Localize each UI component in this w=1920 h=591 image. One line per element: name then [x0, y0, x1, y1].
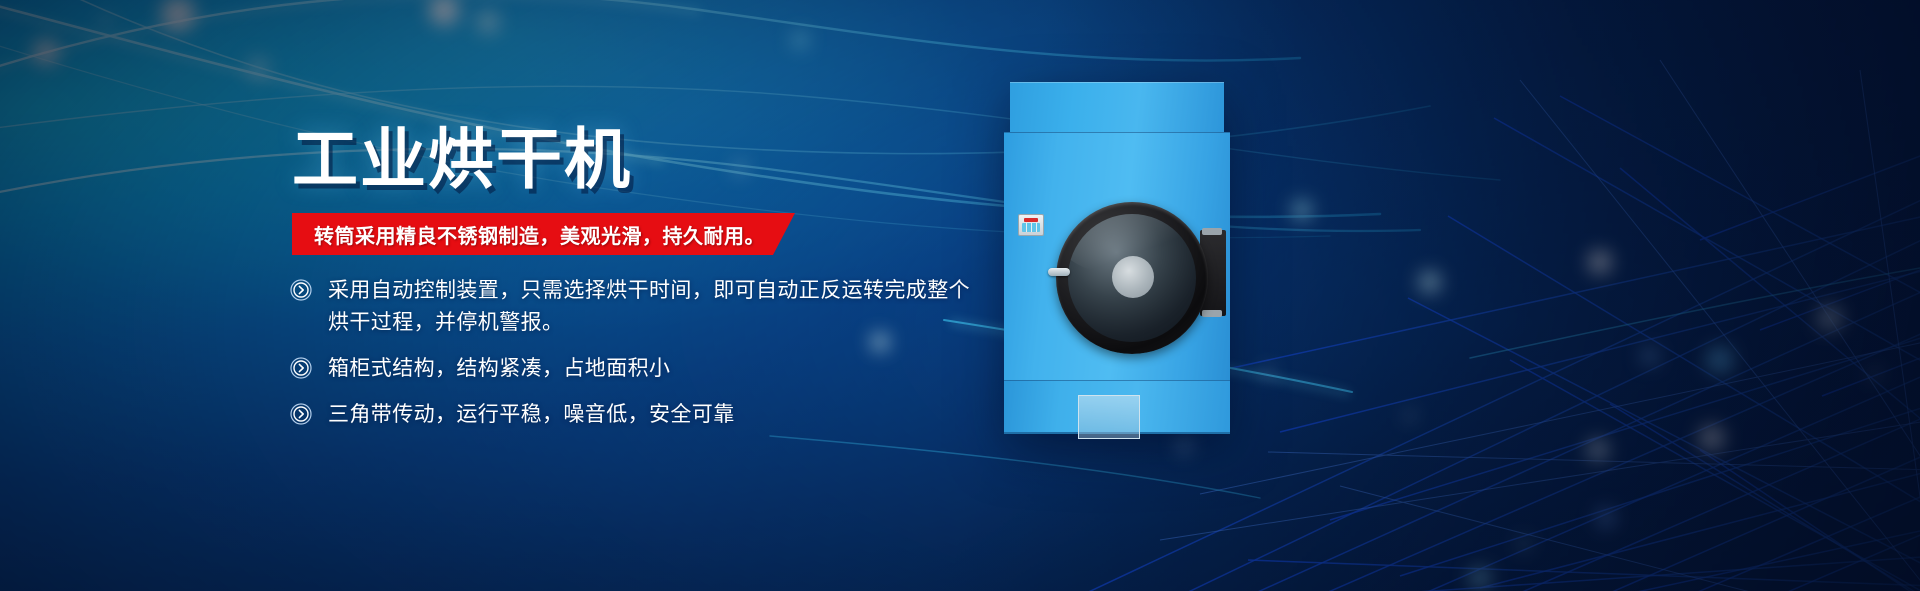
- promo-banner: 工业烘干机 转筒采用精良不锈钢制造，美观光滑，持久耐用。 采用自动控制装置，只需…: [0, 0, 1920, 591]
- list-item: 三角带传动，运行平稳，噪音低，安全可靠: [290, 399, 990, 431]
- feature-text: 箱柜式结构，结构紧凑，占地面积小: [328, 353, 670, 385]
- dryer-lint-hatch[interactable]: [1078, 395, 1140, 439]
- dryer-seam-upper: [1004, 132, 1230, 133]
- dryer-top-panel: [1010, 82, 1224, 132]
- list-item: 箱柜式结构，结构紧凑，占地面积小: [290, 353, 990, 385]
- feature-list: 采用自动控制装置，只需选择烘干时间，即可自动正反运转完成整个烘干过程，并停机警报…: [290, 275, 990, 431]
- page-title: 工业烘干机: [292, 126, 632, 192]
- dryer-control-panel[interactable]: [1018, 214, 1044, 236]
- dryer-door-glass: [1068, 214, 1196, 342]
- feature-text: 三角带传动，运行平稳，噪音低，安全可靠: [328, 399, 735, 431]
- dryer-door[interactable]: [1056, 202, 1208, 354]
- list-item: 采用自动控制装置，只需选择烘干时间，即可自动正反运转完成整个烘干过程，并停机警报…: [290, 275, 990, 339]
- drum-hub-icon: [1112, 256, 1154, 298]
- control-keypad-icon[interactable]: [1022, 223, 1040, 232]
- banner-content: 工业烘干机 转筒采用精良不锈钢制造，美观光滑，持久耐用。 采用自动控制装置，只需…: [0, 0, 1000, 591]
- feature-text: 采用自动控制装置，只需选择烘干时间，即可自动正反运转完成整个烘干过程，并停机警报…: [328, 275, 990, 339]
- chevron-right-circle-icon: [290, 403, 312, 425]
- chevron-right-circle-icon: [290, 357, 312, 379]
- dryer-seam-lower: [1004, 380, 1230, 381]
- dryer-door-handle[interactable]: [1048, 268, 1070, 276]
- chevron-right-circle-icon: [290, 279, 312, 301]
- tagline-text: 转筒采用精良不锈钢制造，美观光滑，持久耐用。: [314, 220, 765, 249]
- control-display-icon: [1024, 218, 1038, 222]
- product-image-dryer: [1004, 82, 1230, 434]
- dryer-hinge-cap-top: [1202, 228, 1222, 235]
- dryer-hinge-cap-bottom: [1202, 310, 1222, 317]
- tagline-badge: 转筒采用精良不锈钢制造，美观光滑，持久耐用。: [292, 213, 795, 255]
